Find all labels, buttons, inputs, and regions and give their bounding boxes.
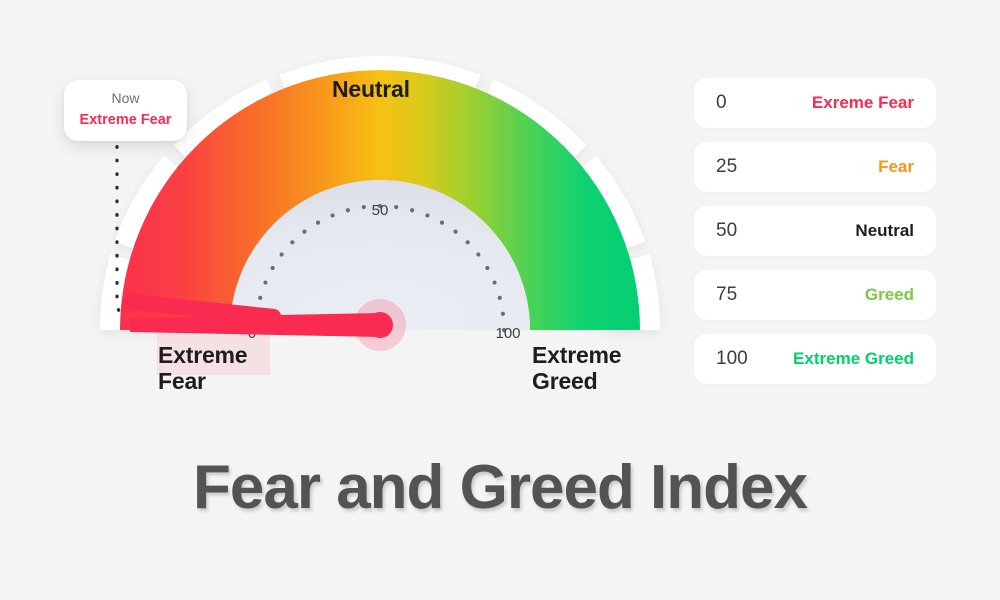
fear-greed-index-page: 0 50 100 Neutral Extreme Fear Extreme — [0, 0, 1000, 600]
gauge-tick-dot — [258, 296, 262, 300]
gauge-label-extreme-greed-line1: Extreme — [532, 343, 672, 369]
gauge-tick-dot — [440, 221, 444, 225]
gauge-label-extreme-fear-line1: Extreme — [158, 343, 278, 369]
current-value-tooltip: Now Extreme Fear — [64, 80, 187, 141]
legend-row-label: Greed — [865, 285, 914, 305]
gauge-tick-dot — [290, 240, 294, 244]
legend-row-label: Exreme Fear — [812, 93, 914, 113]
gauge-scale-max: 100 — [495, 325, 520, 342]
gauge-tick-dot — [316, 221, 320, 225]
legend-row-label: Extreme Greed — [793, 349, 914, 369]
legend-panel: 0Exreme Fear25Fear50Neutral75Greed100Ext… — [694, 78, 936, 384]
gauge-label-neutral: Neutral — [332, 77, 410, 103]
gauge-tick-dot — [501, 312, 505, 316]
gauge-tick-dot — [498, 296, 502, 300]
gauge-tick-dot — [394, 205, 398, 209]
gauge-tick-dot — [263, 280, 267, 284]
gauge-tick-dot — [410, 208, 414, 212]
gauge-label-extreme-fear: Extreme Fear — [158, 343, 278, 395]
legend-row-value: 75 — [716, 284, 737, 306]
legend-row-value: 100 — [716, 348, 748, 370]
legend-row[interactable]: 100Extreme Greed — [694, 334, 936, 384]
gauge-label-extreme-greed-line2: Greed — [532, 369, 672, 395]
gauge-tick-dot — [302, 230, 306, 234]
gauge-tick-dot — [425, 213, 429, 217]
tooltip-value-label: Extreme Fear — [68, 110, 183, 130]
gauge-tick-dot — [466, 240, 470, 244]
gauge-tick-dot — [485, 266, 489, 270]
legend-row-value: 0 — [716, 92, 727, 114]
legend-row[interactable]: 0Exreme Fear — [694, 78, 936, 128]
gauge-tick-dot — [492, 280, 496, 284]
gauge-tick-dot — [476, 252, 480, 256]
legend-row[interactable]: 75Greed — [694, 270, 936, 320]
gauge-scale-mid: 50 — [372, 202, 389, 219]
legend-row-value: 50 — [716, 220, 737, 242]
page-title: Fear and Greed Index — [0, 452, 1000, 523]
gauge-tick-dot — [280, 252, 284, 256]
gauge-tick-dot — [453, 230, 457, 234]
legend-row[interactable]: 50Neutral — [694, 206, 936, 256]
gauge-tick-dot — [330, 213, 334, 217]
legend-row-value: 25 — [716, 156, 737, 178]
legend-row-label: Neutral — [855, 221, 914, 241]
gauge-tick-dot — [271, 266, 275, 270]
legend-row-label: Fear — [878, 157, 914, 177]
gauge-label-extreme-fear-line2: Fear — [158, 369, 278, 395]
legend-row[interactable]: 25Fear — [694, 142, 936, 192]
gauge-label-extreme-greed: Extreme Greed — [532, 343, 672, 395]
gauge-tick-dot — [346, 208, 350, 212]
tooltip-time-label: Now — [68, 89, 183, 109]
gauge-tick-dot — [362, 205, 366, 209]
